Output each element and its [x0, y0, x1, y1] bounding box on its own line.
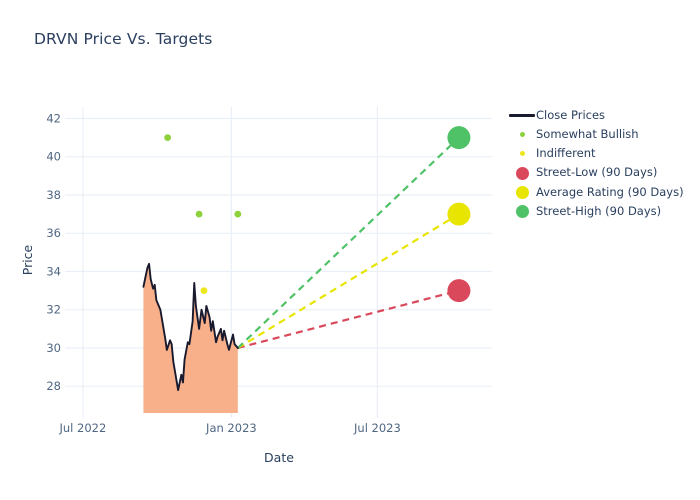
legend-item-label: Average Rating (90 Days): [536, 187, 684, 199]
svg-text:38: 38: [46, 188, 61, 202]
svg-text:Jul 2023: Jul 2023: [353, 421, 401, 435]
svg-text:34: 34: [46, 264, 61, 278]
legend-dot-icon: [508, 183, 536, 202]
legend-dot-icon: [508, 144, 536, 163]
svg-text:28: 28: [46, 379, 61, 393]
legend-dot-icon: [508, 202, 536, 221]
legend-item-average-rating[interactable]: Average Rating (90 Days): [508, 183, 694, 202]
legend-item-label: Close Prices: [536, 110, 605, 122]
legend-dot-icon: [508, 164, 536, 183]
svg-text:30: 30: [46, 341, 61, 355]
horizontal-gridlines: [70, 118, 492, 386]
legend-item-label: Street-Low (90 Days): [536, 167, 657, 179]
x-axis-title: Date: [264, 450, 294, 465]
legend-item-close-prices[interactable]: Close Prices: [508, 106, 694, 125]
legend-line-icon: [508, 106, 536, 125]
data-point-markers[interactable]: [164, 126, 470, 302]
svg-text:42: 42: [46, 111, 61, 125]
legend-item-label: Somewhat Bullish: [536, 129, 639, 141]
legend-item-street-high[interactable]: Street-High (90 Days): [508, 202, 694, 221]
legend-item-street-low[interactable]: Street-Low (90 Days): [508, 164, 694, 183]
svg-text:32: 32: [46, 303, 61, 317]
chart-legend: Close Prices Somewhat Bullish Indifferen…: [508, 106, 694, 221]
y-axis-title: Price: [20, 244, 35, 275]
legend-item-somewhat-bullish[interactable]: Somewhat Bullish: [508, 125, 694, 144]
svg-text:Jul 2022: Jul 2022: [59, 421, 107, 435]
svg-text:Jan 2023: Jan 2023: [205, 421, 257, 435]
legend-item-label: Street-High (90 Days): [536, 206, 661, 218]
chart-container: DRVN Price Vs. Targets 2830323436384042 …: [0, 0, 700, 500]
legend-item-label: Indifferent: [536, 148, 596, 160]
legend-dot-icon: [508, 125, 536, 144]
x-axis-tick-labels: Jul 2022Jan 2023Jul 2023: [59, 421, 401, 435]
svg-text:36: 36: [46, 226, 61, 240]
legend-item-indifferent[interactable]: Indifferent: [508, 144, 694, 163]
svg-text:40: 40: [46, 150, 61, 164]
target-dash-lines: [238, 138, 459, 348]
y-axis-tick-labels: 2830323436384042: [46, 111, 61, 393]
plot-area: 2830323436384042 Jul 2022Jan 2023Jul 202…: [0, 0, 700, 500]
